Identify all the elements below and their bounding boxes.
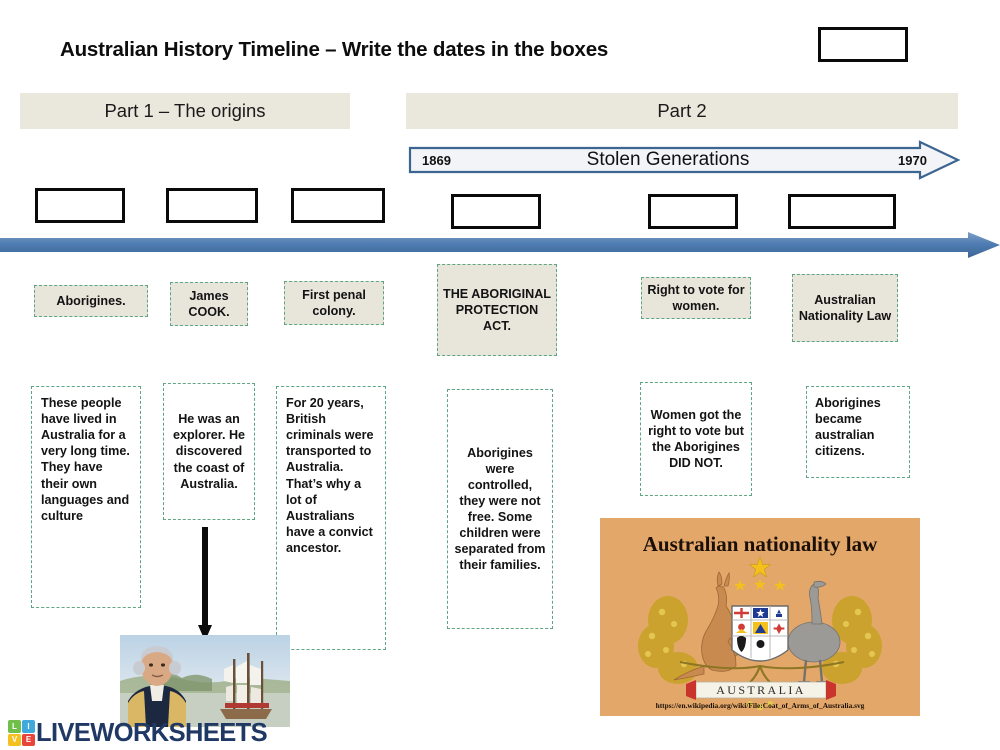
nationality-image-credit: https://en.wikipedia.org/wiki/File:Coat_…: [600, 701, 920, 710]
answer-box-4[interactable]: [451, 194, 541, 229]
james-cook-portrait-image: [120, 635, 290, 727]
note-penal-colony: For 20 years, British criminals were tra…: [276, 386, 386, 650]
note-women-vote-text: Women got the right to vote but the Abor…: [647, 407, 745, 471]
main-timeline-arrow-shape: [0, 232, 1000, 258]
note-aborigines-text: These people have lived in Australia for…: [41, 395, 131, 524]
tag-right-to-vote-label: Right to vote for women.: [647, 282, 745, 314]
stolen-generations-end-year: 1970: [898, 140, 927, 180]
tag-first-penal-colony: First penal colony.: [284, 281, 384, 325]
stolen-generations-label: Stolen Generations: [408, 140, 928, 180]
liveworksheets-logo[interactable]: L I V E LIVEWORKSHEETS: [8, 718, 267, 748]
coat-of-arms-icon: AUSTRALIA: [600, 554, 920, 714]
note-citizens: Aborigines became australian citizens.: [806, 386, 910, 478]
answer-box-2[interactable]: [166, 188, 258, 223]
note-women-vote: Women got the right to vote but the Abor…: [640, 382, 752, 496]
tag-james-cook: James COOK.: [170, 282, 248, 326]
page-title: Australian History Timeline – Write the …: [60, 38, 780, 62]
note-james-cook-text: He was an explorer. He discovered the co…: [170, 411, 248, 492]
logo-tile-v: V: [8, 734, 21, 747]
note-aborigines: These people have lived in Australia for…: [31, 386, 141, 608]
note-penal-colony-text: For 20 years, British criminals were tra…: [286, 395, 376, 556]
note-citizens-text: Aborigines became australian citizens.: [815, 395, 901, 459]
answer-box-3[interactable]: [291, 188, 385, 223]
tag-nationality-law-label: Australian Nationality Law: [798, 292, 892, 324]
tag-james-cook-label: James COOK.: [176, 288, 242, 320]
tag-right-to-vote: Right to vote for women.: [641, 277, 751, 319]
logo-tile-i: I: [22, 720, 35, 733]
note-protection-act: Aborigines were controlled, they were no…: [447, 389, 553, 629]
logo-tile-l: L: [8, 720, 21, 733]
logo-tile-e: E: [22, 734, 35, 747]
section-label-part-2: Part 2: [657, 100, 706, 122]
tag-aborigines-label: Aborigines.: [56, 293, 125, 309]
answer-box-5[interactable]: [648, 194, 738, 229]
note-protection-act-text: Aborigines were controlled, they were no…: [454, 445, 546, 574]
answer-box-6[interactable]: [788, 194, 896, 229]
tag-aborigines: Aborigines.: [34, 285, 148, 317]
tag-first-penal-colony-label: First penal colony.: [290, 287, 378, 319]
tag-nationality-law: Australian Nationality Law: [792, 274, 898, 342]
australia-ribbon-text: AUSTRALIA: [716, 683, 806, 697]
section-bar-part-2: Part 2: [406, 93, 958, 129]
tag-aboriginal-protection-act-label: THE ABORIGINAL PROTECTION ACT.: [443, 286, 551, 334]
james-cook-portrait-art: [120, 635, 290, 727]
down-arrow-shape: [180, 525, 230, 643]
worksheet-page: Australian History Timeline – Write the …: [0, 0, 1000, 750]
down-arrow-icon: [180, 525, 230, 643]
liveworksheets-wordmark: LIVEWORKSHEETS: [36, 719, 267, 748]
main-timeline-arrow: [0, 232, 1000, 258]
stolen-generations-arrow: 1869 Stolen Generations 1970: [408, 140, 960, 180]
note-james-cook: He was an explorer. He discovered the co…: [163, 383, 255, 520]
section-label-part-1: Part 1 – The origins: [104, 100, 265, 122]
australian-nationality-law-image: Australian nationality law: [600, 518, 920, 716]
tag-aboriginal-protection-act: THE ABORIGINAL PROTECTION ACT.: [437, 264, 557, 356]
section-bar-part-1: Part 1 – The origins: [20, 93, 350, 129]
answer-box-1[interactable]: [35, 188, 125, 223]
answer-box-header[interactable]: [818, 27, 908, 62]
liveworksheets-logo-tiles: L I V E: [8, 720, 35, 746]
